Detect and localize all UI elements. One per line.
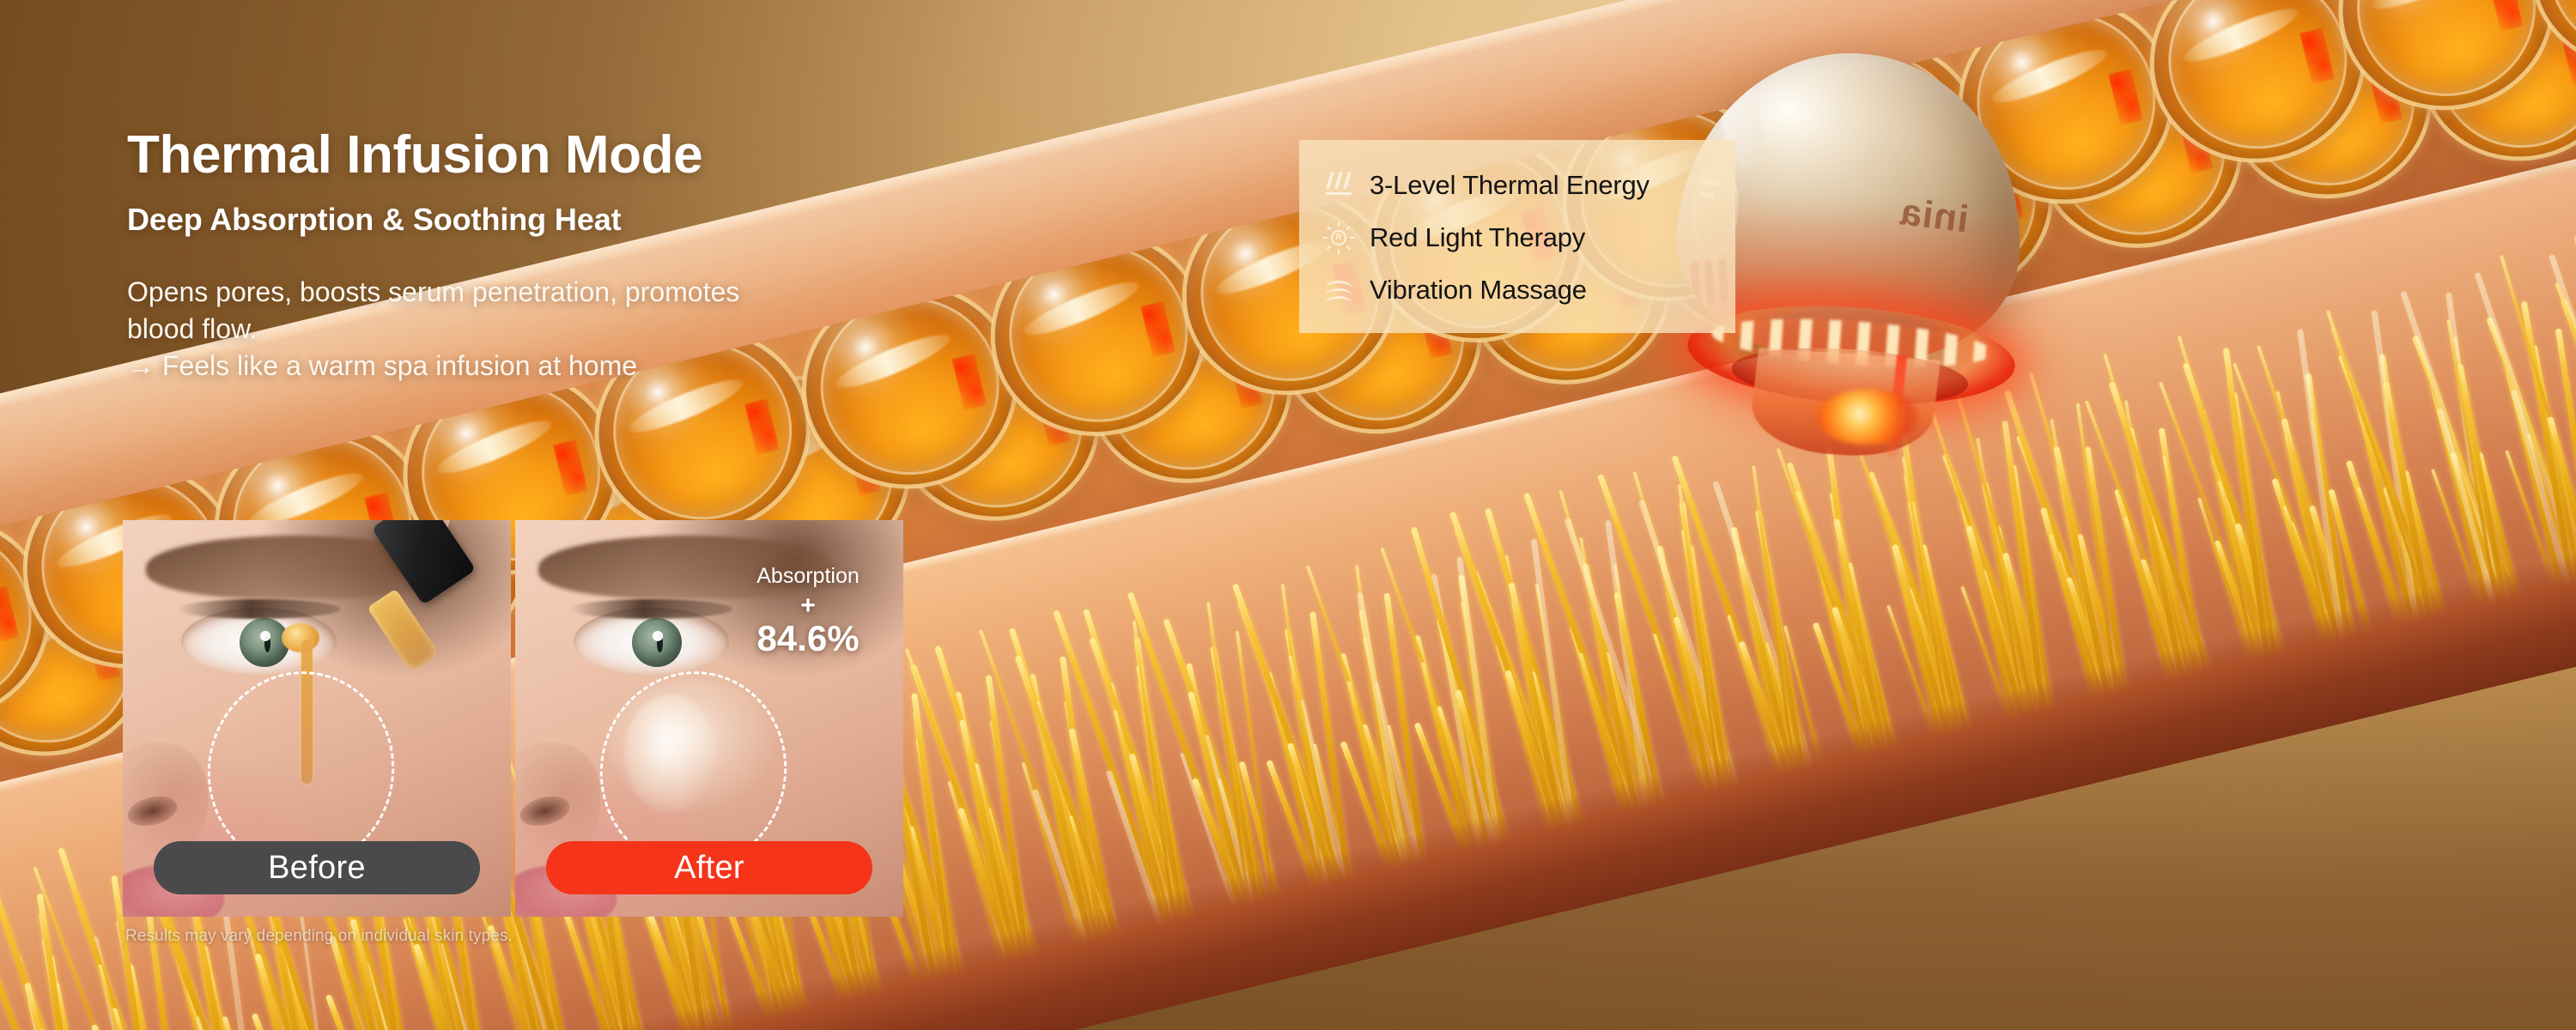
page-subtitle: Deep Absorption & Soothing Heat: [127, 202, 1140, 238]
red-light-sun-icon: R: [1321, 221, 1356, 255]
sun-ray: [1338, 249, 1340, 254]
feature-label-red-light: Red Light Therapy: [1370, 222, 1585, 253]
body-line-2: blood flow.: [127, 311, 1140, 348]
device-contact-glow: [1816, 390, 1919, 445]
sun-ray: [1346, 225, 1351, 230]
absorption-caption: Absorption: [726, 565, 890, 589]
before-after-comparison: Before Absorption + 84.6% After: [123, 520, 904, 917]
feature-label-thermal: 3-Level Thermal Energy: [1370, 170, 1649, 201]
sun-ray: [1338, 221, 1340, 227]
feature-item-red-light: R Red Light Therapy: [1321, 211, 1713, 264]
sun-ray: [1350, 237, 1355, 239]
promo-banner: inia Thermal Infusion Mode Deep Absorpti…: [0, 0, 2576, 1030]
pupil: [657, 634, 663, 651]
feature-panel: 3-Level Thermal Energy R Red Light Thera…: [1299, 140, 1735, 333]
body-copy: Opens pores, boosts serum penetration, p…: [127, 274, 1140, 385]
feature-label-vibration: Vibration Massage: [1370, 275, 1587, 306]
eyelash: [177, 599, 340, 619]
absorption-badge: Absorption + 84.6%: [726, 565, 890, 657]
after-pane: Absorption + 84.6% After: [515, 520, 903, 917]
sun-ray: [1327, 245, 1332, 250]
body-line-3: → Feels like a warm spa infusion at home: [127, 348, 1140, 385]
sun-ray: [1327, 225, 1332, 230]
collagen-fiber: [0, 1018, 9, 1030]
sun-ray: [1346, 245, 1351, 250]
eyelash: [569, 599, 732, 619]
iris: [632, 618, 682, 667]
absorption-value: 84.6%: [726, 620, 890, 657]
disclaimer-text: Results may vary depending on individual…: [125, 927, 513, 946]
before-pane: Before: [123, 520, 511, 917]
pupil: [264, 634, 270, 651]
heat-waves-icon: [1321, 168, 1356, 203]
sun-ray: [1322, 237, 1327, 239]
feature-item-vibration: Vibration Massage: [1321, 264, 1713, 316]
vibration-waves-icon: [1321, 273, 1356, 307]
copy-block: Thermal Infusion Mode Deep Absorption & …: [127, 127, 1140, 385]
device-brand-logo: inia: [1898, 191, 1971, 241]
after-label-pill: After: [546, 841, 872, 894]
feature-item-thermal: 3-Level Thermal Energy: [1321, 159, 1713, 211]
absorption-sign: +: [726, 591, 890, 621]
page-title: Thermal Infusion Mode: [127, 127, 1140, 185]
body-line-1: Opens pores, boosts serum penetration, p…: [127, 274, 1140, 311]
before-label-pill: Before: [154, 841, 480, 894]
